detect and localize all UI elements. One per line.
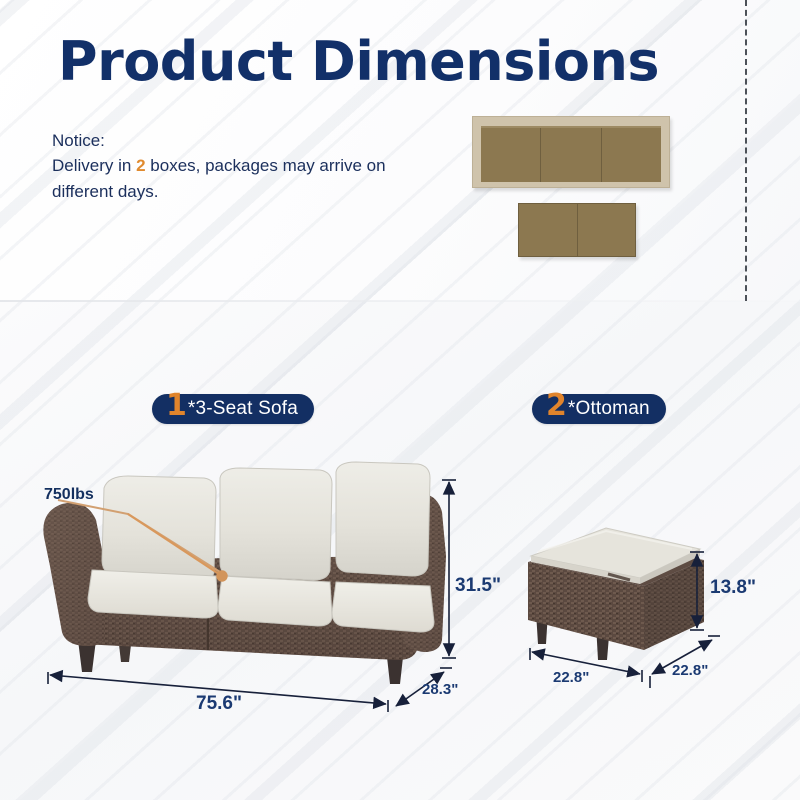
ottoman-width-label: 22.8"	[553, 669, 589, 686]
ottoman-illustration	[528, 528, 704, 660]
weight-capacity-label: 750lbs	[44, 486, 94, 504]
ottoman-height-label: 13.8"	[710, 577, 756, 599]
sofa-depth-label: 28.3"	[422, 681, 458, 698]
infographic-page: Product Dimensions Notice: Delivery in 2…	[0, 0, 800, 800]
sofa-height-label: 31.5"	[455, 575, 501, 597]
sofa-illustration	[43, 462, 446, 684]
sofa-width-label: 75.6"	[196, 693, 242, 715]
ottoman-depth-label: 22.8"	[672, 662, 708, 679]
furniture-artwork	[0, 0, 800, 800]
